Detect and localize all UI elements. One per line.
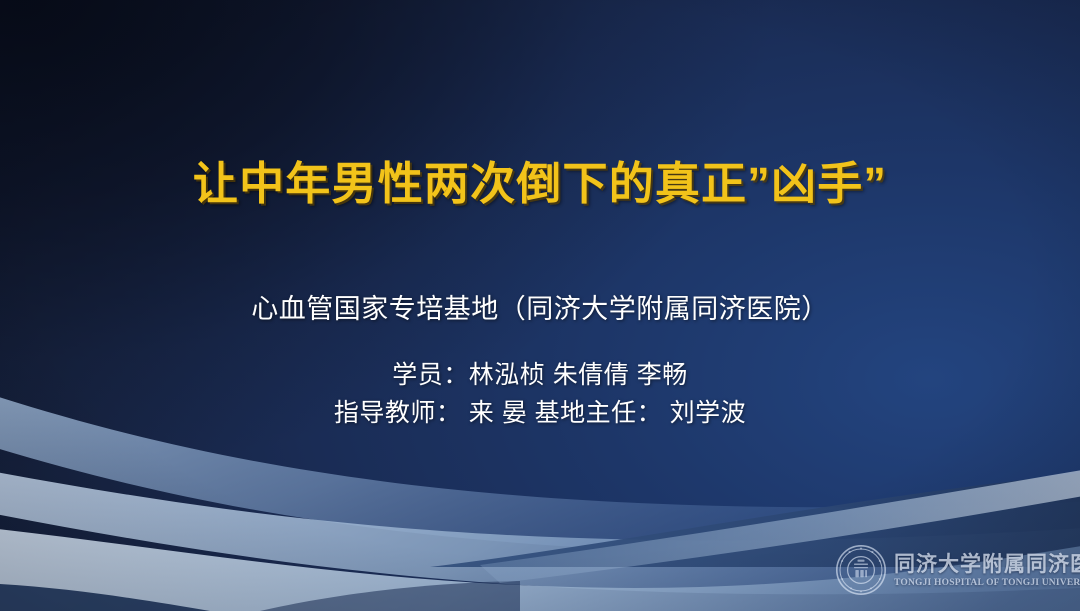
tongji-seal-icon [835, 544, 887, 596]
logo-name-cn: 同济大学附属同济医院 [894, 554, 1080, 575]
slide-content: 让中年男性两次倒下的真正”凶手” 心血管国家专培基地（同济大学附属同济医院） 学… [0, 0, 1080, 611]
logo-name-en: TONGJI HOSPITAL OF TONGJI UNIVERSITY [894, 579, 1080, 589]
credits-block: 学员：林泓桢 朱倩倩 李畅 指导教师： 来 晏 基地主任： 刘学波 [0, 356, 1080, 432]
logo-text-group: 同济大学附属同济医院 TONGJI HOSPITAL OF TONGJI UNI… [894, 552, 1080, 589]
presentation-title-slide: 让中年男性两次倒下的真正”凶手” 心血管国家专培基地（同济大学附属同济医院） 学… [0, 0, 1080, 611]
slide-subtitle-organization: 心血管国家专培基地（同济大学附属同济医院） [0, 287, 1080, 326]
credits-line-trainees: 学员：林泓桢 朱倩倩 李畅 [0, 356, 1080, 394]
hospital-logo: 同济大学附属同济医院 TONGJI HOSPITAL OF TONGJI UNI… [835, 542, 1080, 598]
credits-line-supervisors: 指导教师： 来 晏 基地主任： 刘学波 [0, 394, 1080, 432]
slide-title: 让中年男性两次倒下的真正”凶手” [0, 147, 1080, 212]
